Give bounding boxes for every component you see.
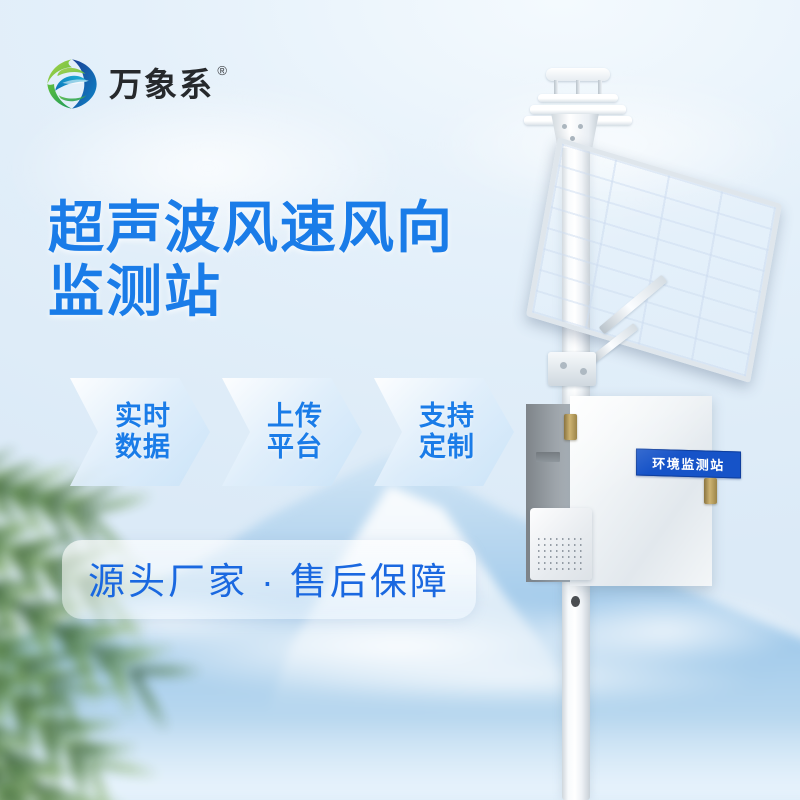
registered-mark: ® [217,64,229,77]
cabinet-label: 环境监测站 [636,449,741,479]
vent-grille-icon [538,538,582,570]
solar-panel-assembly [528,166,768,371]
solar-panel [526,137,782,383]
badge-line-1: 上传 [267,401,323,432]
sensor-port-icon [578,124,583,129]
radiation-shield-plate [530,105,626,114]
solar-cell-texture [532,143,776,376]
badge-line-1: 实时 [115,401,171,432]
feature-badge-label: 上传 平台 [261,401,323,464]
brand-logo[interactable]: 万象系 ® [44,56,214,112]
brand-name-text: 万象系 [109,66,214,103]
feature-badge-customization[interactable]: 支持 定制 [374,378,514,486]
cabinet-hinge-icon [564,414,577,440]
pole-cable-port-icon [571,596,580,607]
cabinet-vent-slot [536,452,560,462]
feature-badge-label: 支持 定制 [413,401,475,464]
clamp-bolt-icon [560,362,567,369]
headline-line-2: 监测站 [48,260,518,324]
pole-clamp [548,352,596,386]
sensor-port-icon [562,124,567,129]
tagline-pill: 源头厂家 · 售后保障 [62,540,476,619]
anemometer-post [598,80,602,95]
cabinet-latch-icon [704,478,717,504]
feature-badge-label: 实时 数据 [109,401,171,464]
page-title: 超声波风速风向 监测站 [48,196,518,324]
brand-name: 万象系 ® [109,68,214,101]
badge-line-2: 定制 [419,432,475,463]
feature-badge-realtime-data[interactable]: 实时 数据 [70,378,210,486]
badge-line-2: 平台 [267,432,323,463]
product-banner: 环境监测站 [0,0,800,800]
radiation-shield-plate [538,94,618,102]
badge-line-2: 数据 [115,432,171,463]
cabinet-vent-box [530,508,592,580]
anemometer-post [554,80,558,95]
globe-swirl-logo-icon [44,56,100,112]
feature-badge-upload-platform[interactable]: 上传 平台 [222,378,362,486]
anemometer-post [576,80,580,95]
clamp-bolt-icon [580,368,587,375]
badge-line-1: 支持 [419,401,475,432]
feature-badge-list: 实时 数据 上传 平台 支持 定制 [70,378,514,486]
control-cabinet: 环境监测站 [526,396,712,592]
headline-line-1: 超声波风速风向 [48,196,518,260]
